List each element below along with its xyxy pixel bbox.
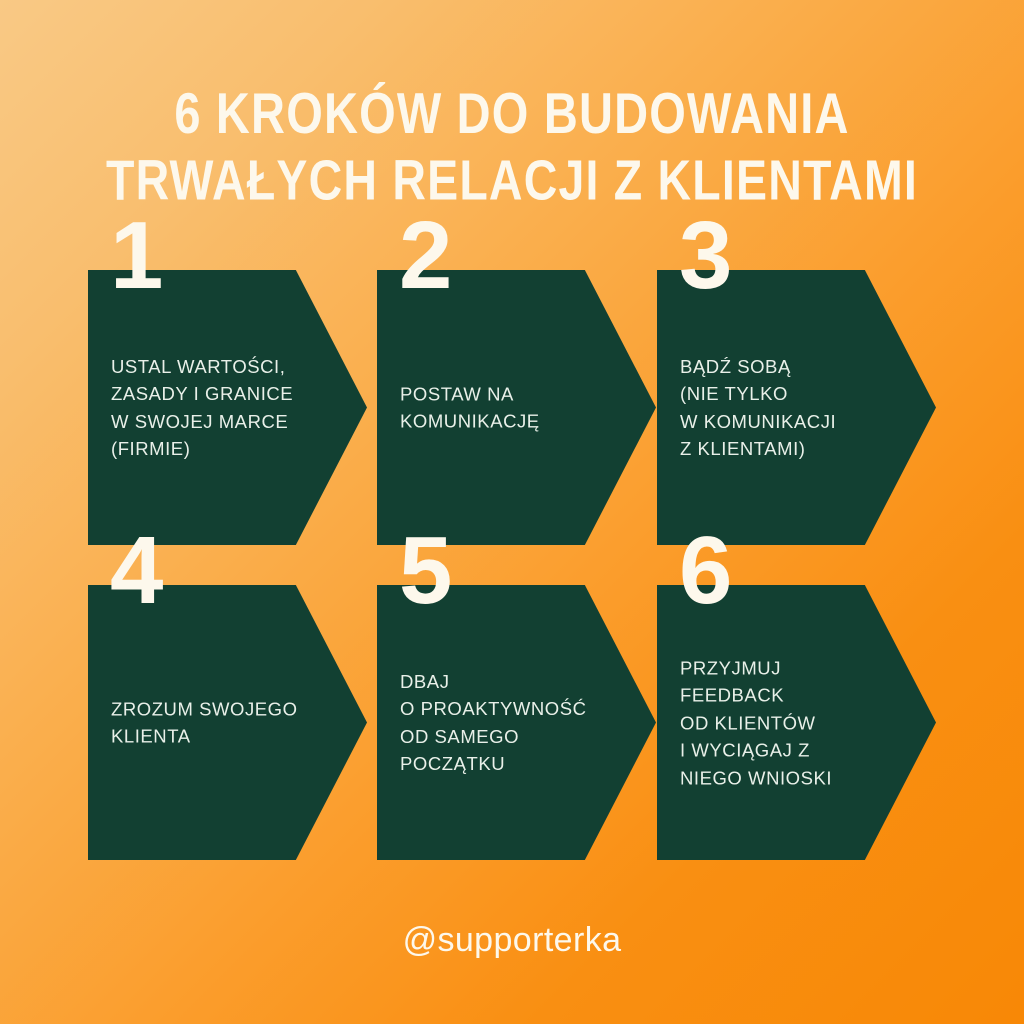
step-text: USTAL WARTOŚCI,ZASADY I GRANICEW SWOJEJ … [111,353,311,463]
step-number: 5 [399,523,451,619]
step-text-line: ZASADY I GRANICE [111,380,311,408]
step-text-line: BĄDŹ SOBĄ [680,353,880,381]
step-number: 1 [110,208,162,304]
step-number: 3 [679,208,731,304]
step-text-line: POCZĄTKU [400,750,600,778]
title-line-1: 6 KROKÓW DO BUDOWANIA [26,78,998,148]
step-card-4[interactable]: 4 ZROZUM SWOJEGOKLIENTA [88,585,367,860]
social-handle[interactable]: @supporterka [0,918,1024,962]
infographic-poster: 6 KROKÓW DO BUDOWANIA TRWAŁYCH RELACJI Z… [0,0,1024,1024]
step-text-line: I WYCIĄGAJ Z [680,736,880,764]
step-card-5[interactable]: 5 DBAJO PROAKTYWNOŚĆOD SAMEGOPOCZĄTKU [377,585,656,860]
step-text-line: FEEDBACK [680,681,880,709]
step-text: POSTAW NAKOMUNIKACJĘ [400,380,600,435]
step-text-line: KOMUNIKACJĘ [400,408,600,436]
step-text-line: W SWOJEJ MARCE [111,408,311,436]
step-number: 2 [399,208,451,304]
step-text-line: KLIENTA [111,723,311,751]
step-text-line: ZROZUM SWOJEGO [111,695,311,723]
title-line-2: TRWAŁYCH RELACJI Z KLIENTAMI [26,146,998,216]
step-text-line: W KOMUNIKACJI [680,408,880,436]
step-text-line: Z KLIENTAMI) [680,435,880,463]
step-text-line: OD SAMEGO [400,723,600,751]
step-text-line: O PROAKTYWNOŚĆ [400,695,600,723]
step-card-3[interactable]: 3 BĄDŹ SOBĄ(NIE TYLKOW KOMUNIKACJIZ KLIE… [657,270,936,545]
step-text: ZROZUM SWOJEGOKLIENTA [111,695,311,750]
step-text-line: USTAL WARTOŚCI, [111,353,311,381]
step-card-1[interactable]: 1 USTAL WARTOŚCI,ZASADY I GRANICEW SWOJE… [88,270,367,545]
step-text-line: (NIE TYLKO [680,380,880,408]
step-text: PRZYJMUJFEEDBACKOD KLIENTÓWI WYCIĄGAJ ZN… [680,654,880,792]
step-number: 4 [110,523,162,619]
step-text-line: OD KLIENTÓW [680,709,880,737]
step-text: BĄDŹ SOBĄ(NIE TYLKOW KOMUNIKACJIZ KLIENT… [680,353,880,463]
step-text-line: NIEGO WNIOSKI [680,764,880,792]
page-title: 6 KROKÓW DO BUDOWANIA TRWAŁYCH RELACJI Z… [0,78,1024,203]
step-text-line: PRZYJMUJ [680,654,880,682]
step-text-line: POSTAW NA [400,380,600,408]
step-card-6[interactable]: 6 PRZYJMUJFEEDBACKOD KLIENTÓWI WYCIĄGAJ … [657,585,936,860]
step-text-line: (FIRMIE) [111,435,311,463]
step-number: 6 [679,523,731,619]
step-text-line: DBAJ [400,668,600,696]
step-text: DBAJO PROAKTYWNOŚĆOD SAMEGOPOCZĄTKU [400,668,600,778]
steps-grid: 1 USTAL WARTOŚCI,ZASADY I GRANICEW SWOJE… [88,270,946,858]
step-card-2[interactable]: 2 POSTAW NAKOMUNIKACJĘ [377,270,656,545]
